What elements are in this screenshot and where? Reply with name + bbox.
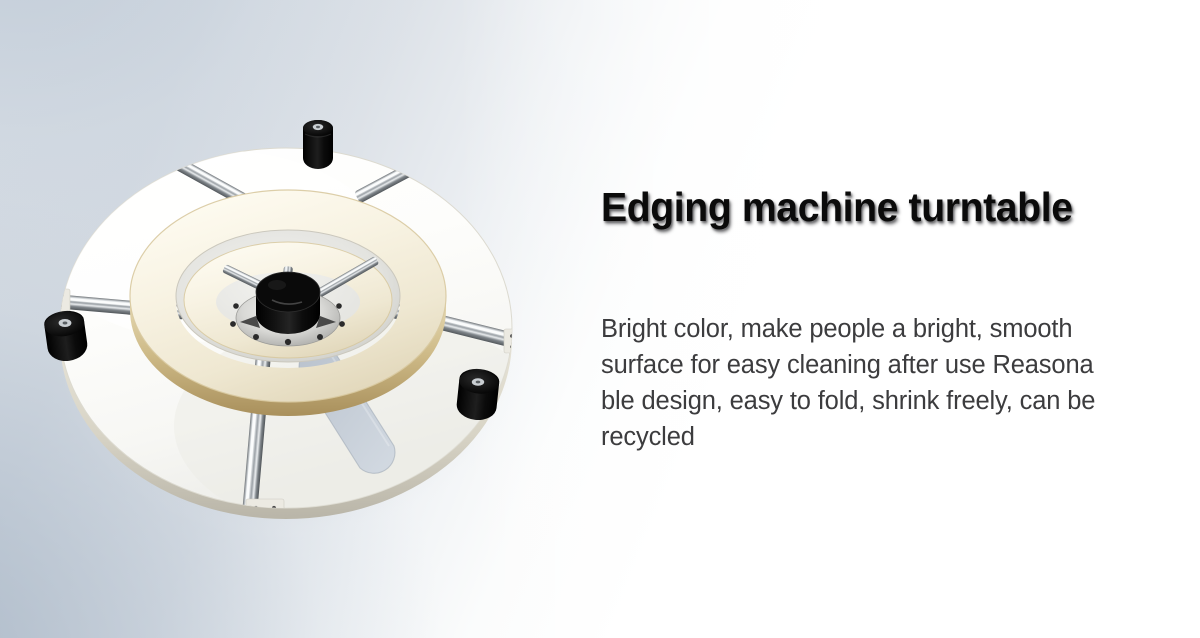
description-line: surface for easy cleaning after use Reas… xyxy=(601,347,1149,383)
description-line: ble design, easy to fold, shrink freely,… xyxy=(601,383,1149,419)
roller xyxy=(303,120,333,169)
product-description: Bright color, make people a bright, smoo… xyxy=(601,229,1149,455)
center-hub xyxy=(256,272,320,334)
hub-specular xyxy=(268,280,286,290)
product-image xyxy=(34,96,554,546)
product-banner: Edging machine turntable Bright color, m… xyxy=(0,0,1200,638)
text-column: Edging machine turntable Bright color, m… xyxy=(601,186,1153,455)
description-line: recycled xyxy=(601,419,1149,455)
roller xyxy=(455,367,500,422)
page-title: Edging machine turntable xyxy=(601,186,1128,229)
description-line: Bright color, make people a bright, smoo… xyxy=(601,311,1149,347)
